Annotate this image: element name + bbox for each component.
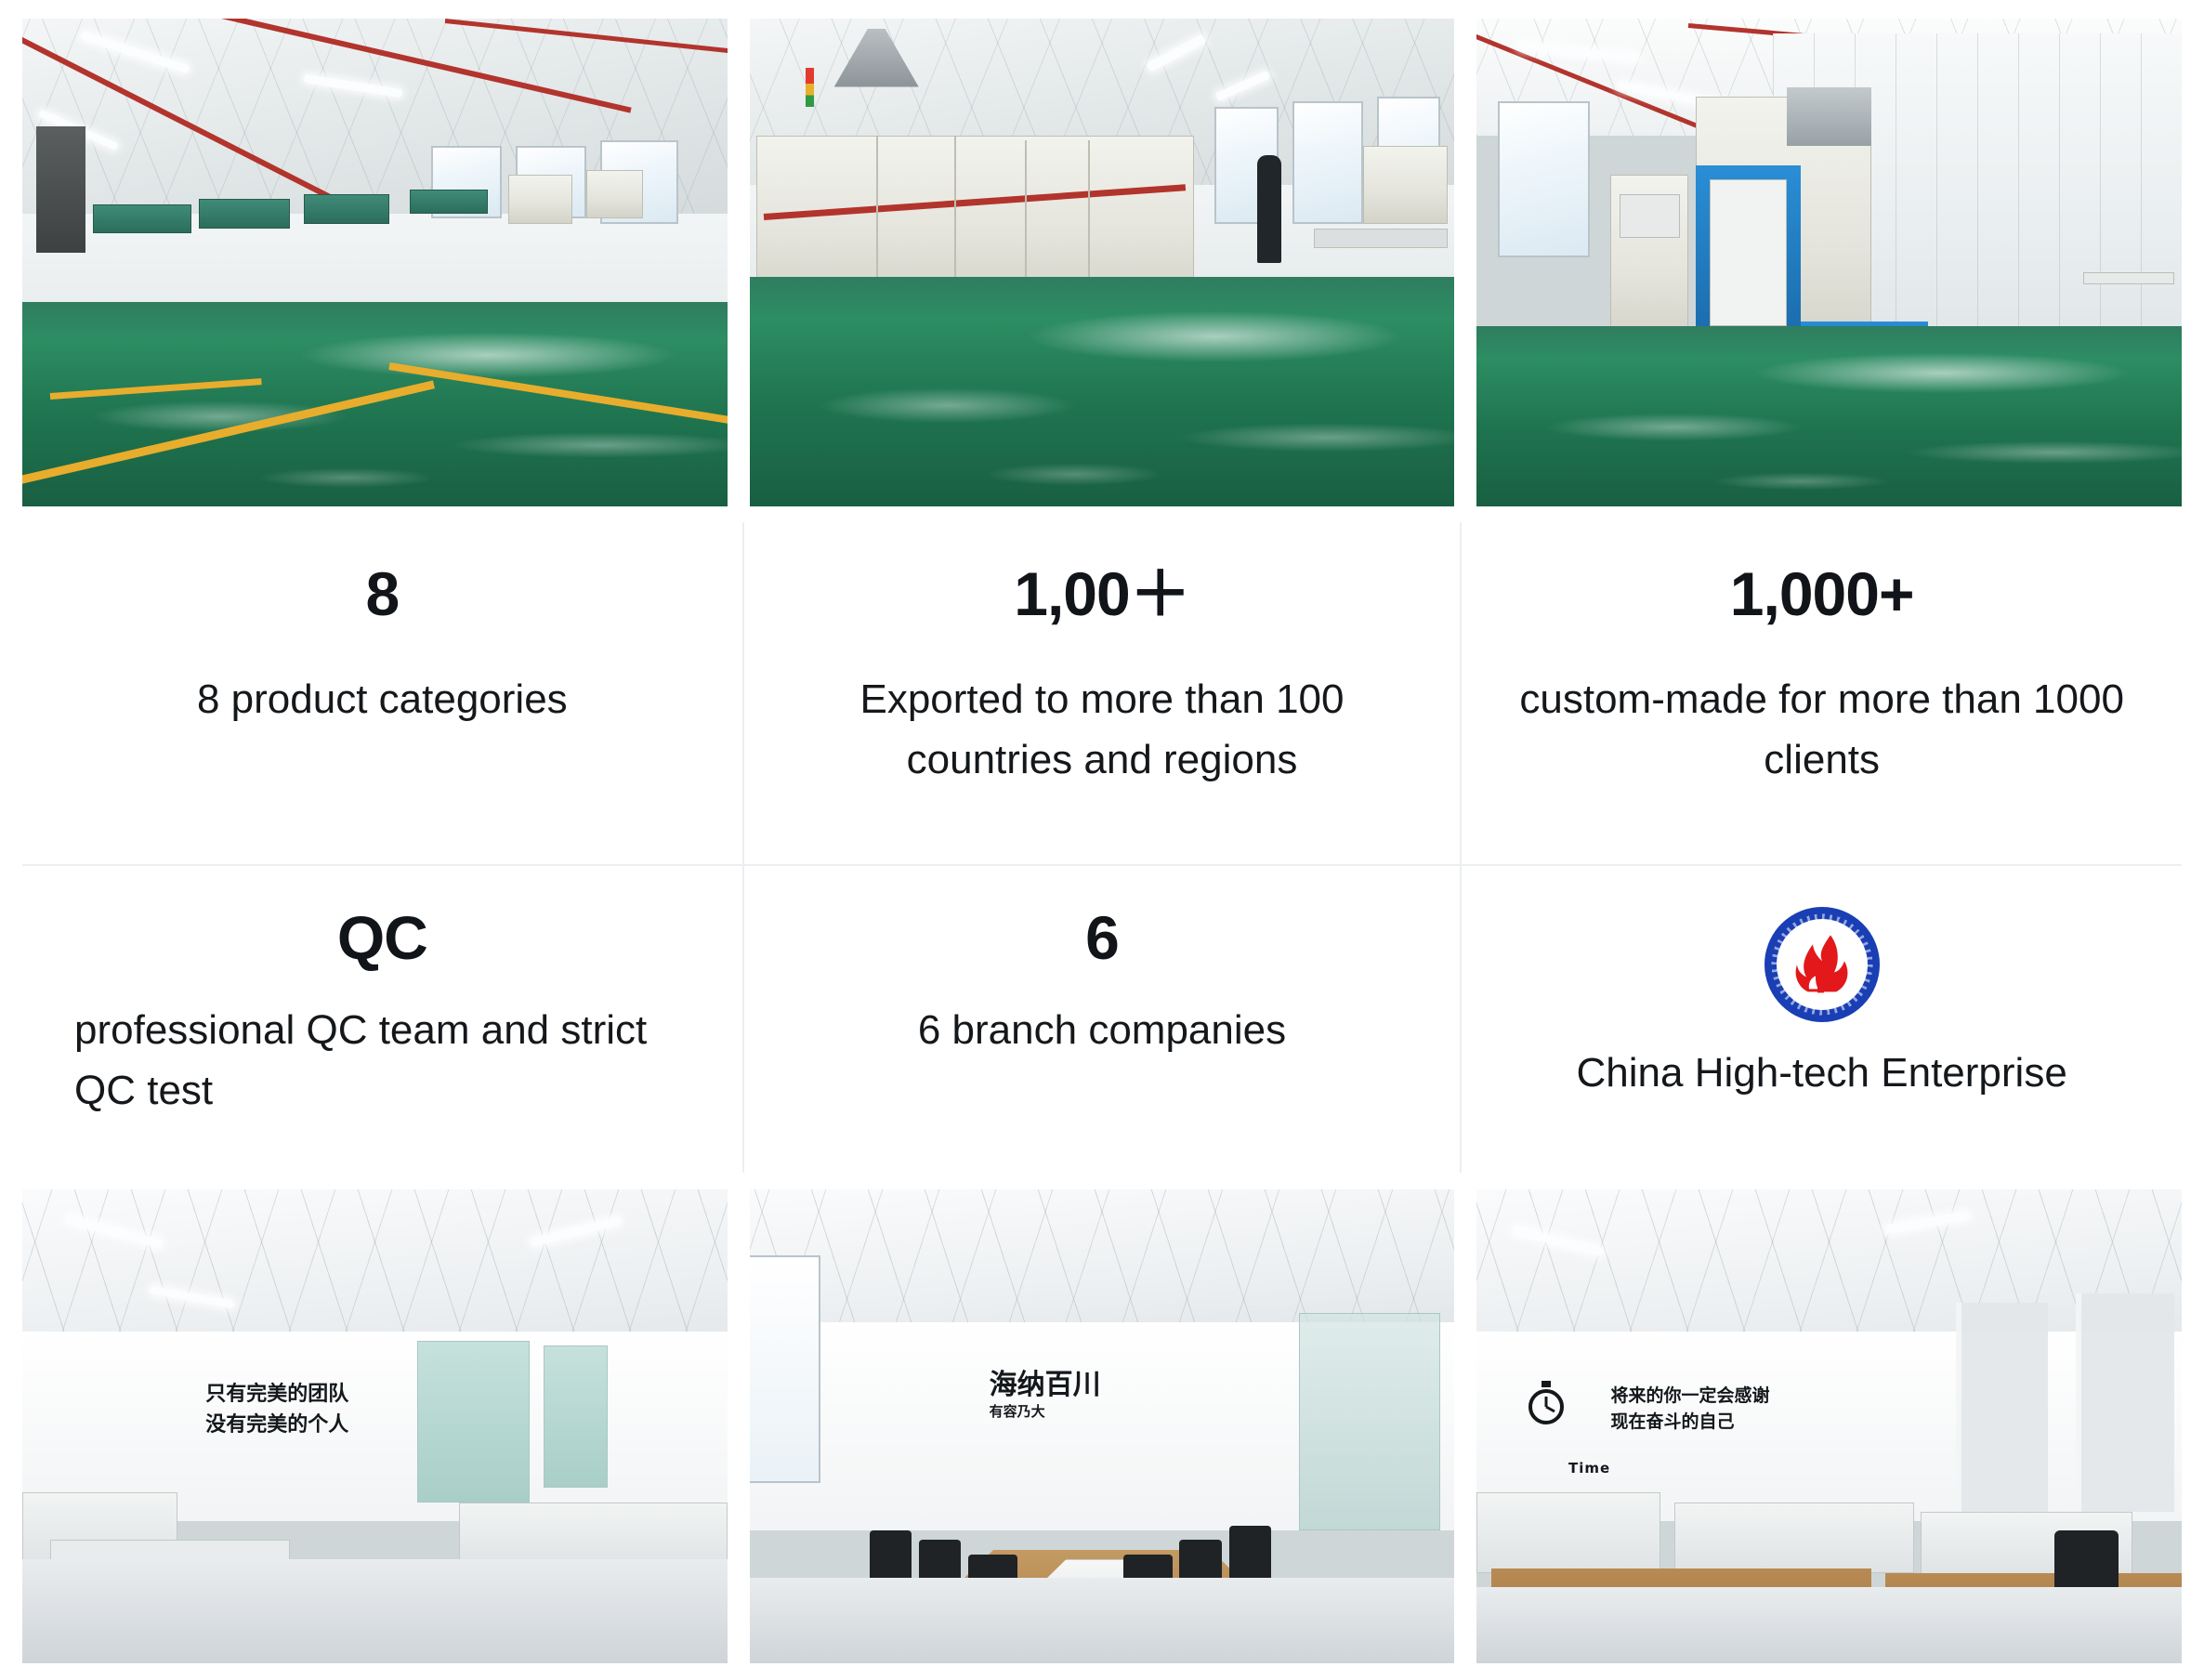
wall-slogan-line-2: 没有完美的个人 [205,1410,348,1440]
calligraphy-wall-art: 海纳百川 有容乃大 [990,1370,1101,1420]
side-table [2083,272,2175,284]
tiled-floor [1476,1587,2182,1663]
stat-number: QC [337,907,427,968]
flame-icon [1793,933,1851,998]
machine-unit [586,170,643,219]
stat-cell-custom-made-clients[interactable]: 1,000+ custom-made for more than 1000 cl… [1462,522,2182,866]
calligraphy-line-1: 海纳百川 [990,1370,1101,1400]
photo-open-plan-office[interactable]: 只有完美的团队 没有完美的个人 [22,1189,728,1663]
oven-panel-seam [876,136,878,296]
wall-slogan-line-1: 只有完美的团队 [205,1379,348,1410]
stat-description: custom-made for more than 1000 clients [1506,669,2138,790]
stat-description: 6 branch companies [918,1000,1286,1060]
stat-number: 6 [1085,907,1119,968]
company-strength-page: 8 8 product categories 1,00＋ Exported to… [0,0,2204,1680]
work-table [1314,229,1448,248]
equipment-cabinet [36,126,85,254]
cubicle-partition [1674,1503,1914,1574]
signal-tower-light [806,68,814,107]
office-photo-row: 只有完美的团队 没有完美的个人 海纳百川 有容乃大 [0,1189,2204,1663]
glass-partition [417,1341,530,1502]
stat-description: professional QC team and strict QC test [59,1000,691,1121]
stat-number: 1,000+ [1730,563,1914,624]
wall-slogan-decal: 只有完美的团队 没有完美的个人 [205,1379,348,1440]
press-machine-head [1787,87,1871,146]
epoxy-floor [750,277,1455,506]
china-high-tech-enterprise-seal-icon [1765,907,1880,1022]
photo-testing-equipment-room[interactable] [1476,19,2182,506]
photo-reflow-oven-line[interactable] [750,19,1455,506]
glass-partition [544,1345,607,1488]
calligraphy-line-2: 有容乃大 [990,1404,1101,1420]
stat-cell-branch-companies[interactable]: 6 6 branch companies [742,866,1463,1173]
oven-panel-seam [954,136,956,292]
sinovo-machine [1363,146,1448,224]
assembly-bench [93,204,191,234]
window-curtain [2076,1293,2174,1512]
stat-cell-qc-team[interactable]: QC professional QC team and strict QC te… [22,866,742,1173]
photo-production-workshop[interactable] [22,19,728,506]
machine-unit [508,175,571,224]
operator-person [1257,155,1281,263]
stat-number: 1,00＋ [1014,563,1189,624]
tiled-floor [22,1559,728,1663]
stat-cell-exported-countries[interactable]: 1,00＋ Exported to more than 100 countrie… [742,522,1463,866]
assembly-bench [410,190,487,214]
oven-panel-seam [1088,140,1090,277]
window [750,1255,820,1483]
photo-workstation-office[interactable]: Time 将来的你一定会感谢 现在奋斗的自己 [1476,1189,2182,1663]
glass-door [1299,1313,1440,1531]
stopwatch-icon [1526,1379,1570,1427]
stat-cell-high-tech-enterprise[interactable]: China High-tech Enterprise [1462,866,2182,1173]
wall-slogan-line-2: 现在奋斗的自己 [1610,1410,1769,1436]
cabinet-control-panel [1620,194,1680,238]
press-machine-white-panel [1710,179,1787,326]
stat-number: 8 [365,563,399,624]
company-stats-grid: 8 8 product categories 1,00＋ Exported to… [22,522,2182,1173]
window-curtain [1956,1303,2048,1511]
wall-slogan-line-1: 将来的你一定会感谢 [1610,1384,1769,1410]
time-label: Time [1568,1460,1610,1477]
assembly-bench [199,199,291,229]
wall-slogan-decal: 将来的你一定会感谢 现在奋斗的自己 [1610,1384,1769,1435]
tiled-floor [750,1578,1455,1663]
stat-description: Exported to more than 100 countries and … [786,669,1418,790]
factory-photo-row [0,19,2204,506]
assembly-bench [304,194,388,224]
epoxy-floor [1476,326,2182,506]
stat-cell-product-categories[interactable]: 8 8 product categories [22,522,742,866]
stat-description: 8 product categories [197,669,568,729]
oven-panel-seam [1025,140,1027,287]
photo-meeting-room[interactable]: 海纳百川 有容乃大 [750,1189,1455,1663]
cubicle-partition [1476,1492,1660,1573]
stat-description: China High-tech Enterprise [1577,1043,2067,1103]
window [1498,101,1590,257]
window [1292,101,1363,223]
